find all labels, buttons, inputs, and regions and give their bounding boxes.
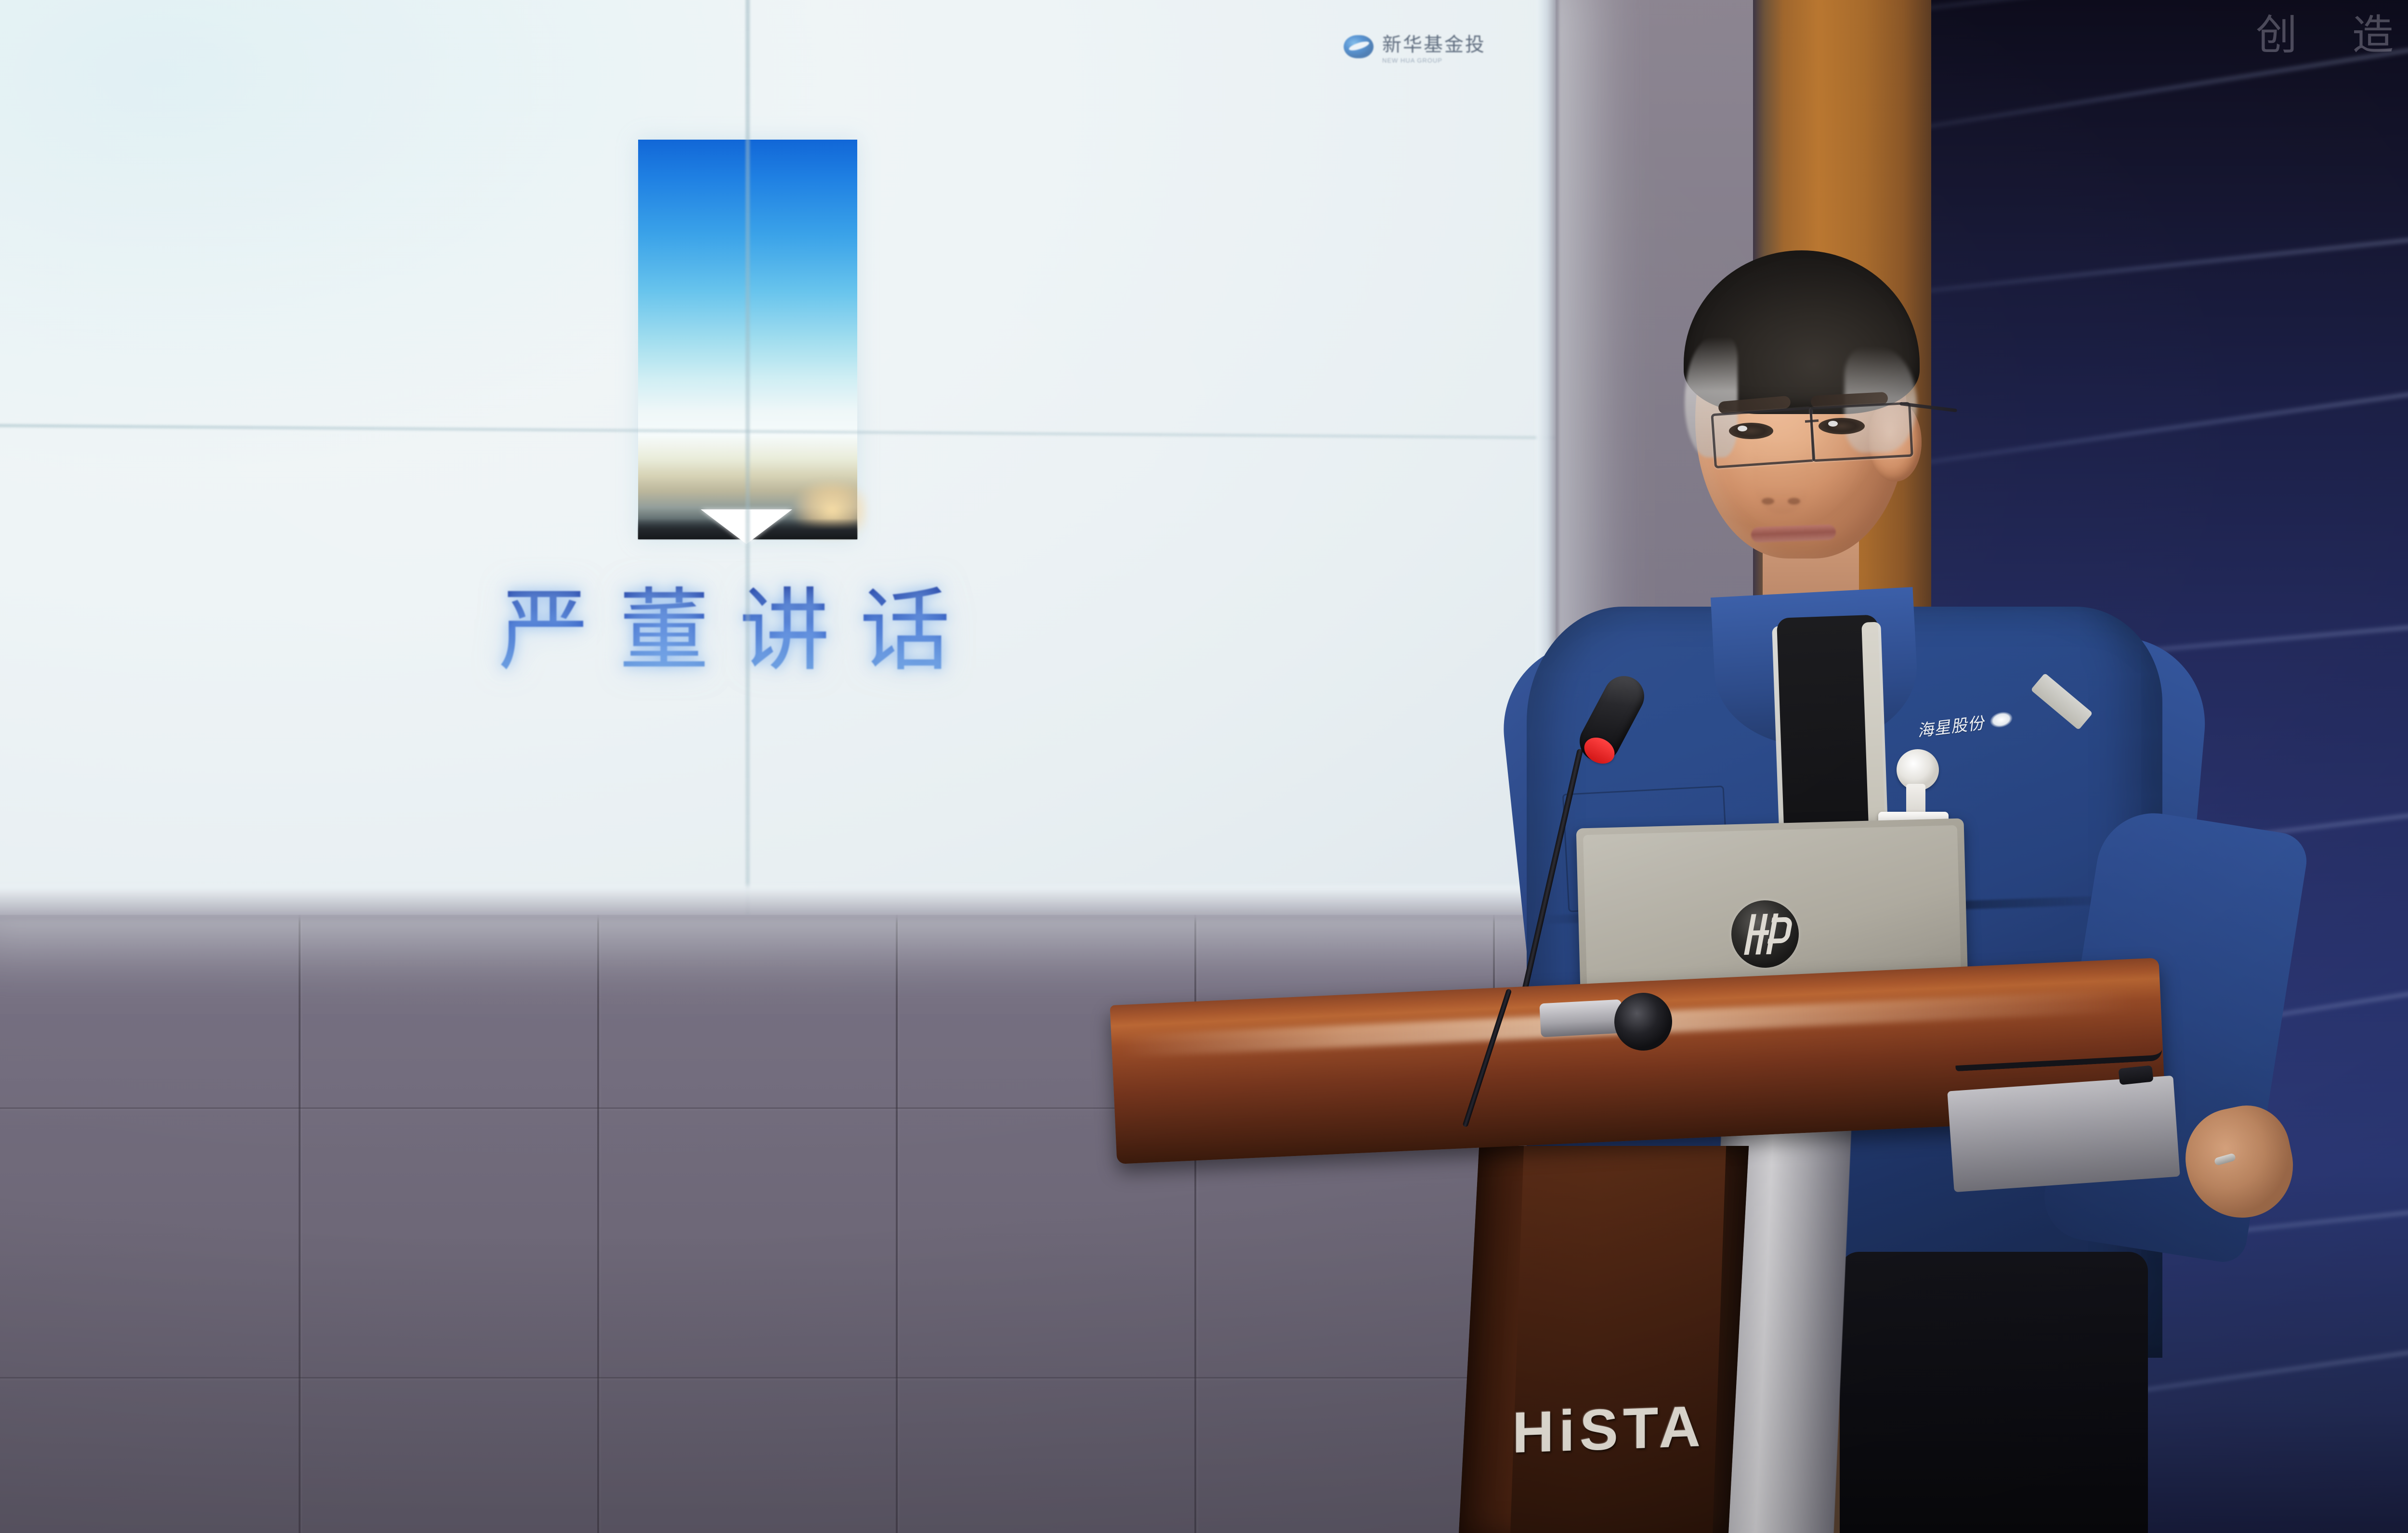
glasses-lens-right — [1809, 402, 1913, 462]
light-streak — [1931, 325, 2408, 491]
hp-logo-h-bar — [1750, 930, 1769, 935]
slide-title: 严 董 讲 话 — [498, 586, 950, 677]
podium-logo-text: HiSTA — [1512, 1393, 1705, 1466]
podium-column-front — [1510, 1146, 1726, 1533]
slide-title-char: 严 — [498, 586, 589, 677]
nostril — [1788, 498, 1800, 505]
slide-title-char: 董 — [619, 586, 709, 677]
trousers — [1840, 1252, 2148, 1533]
screen-vertical-seam — [746, 0, 750, 915]
banner-char: 造 — [2352, 14, 2395, 56]
microphone-base — [1539, 1000, 1623, 1038]
slide-title-char: 讲 — [739, 586, 830, 677]
banner-char: 创 — [2256, 14, 2298, 56]
podium-side-arm — [1947, 1076, 2180, 1192]
jacket-logo-mark-icon — [1986, 707, 2019, 731]
light-streak — [1931, 187, 2408, 313]
mouth — [1751, 524, 1836, 543]
slide-logo-english: NEW HUA GROUP — [1382, 57, 1486, 64]
photo-scene: 创 造 成 就 新华基金投 NEW HUA GROUP 严 董 讲 话 — [0, 0, 2408, 1533]
slide-title-char: 话 — [860, 586, 950, 677]
backdrop-banner-text: 创 造 成 就 — [2256, 14, 2408, 56]
badge-clip — [1906, 784, 1925, 815]
screen-bottom-edge — [0, 886, 1556, 920]
slide-brand-logo: 新华基金投 NEW HUA GROUP — [1344, 29, 1486, 64]
cable-clip — [2118, 1065, 2153, 1085]
glasses-lens-left — [1711, 407, 1815, 468]
nostril — [1762, 498, 1774, 505]
slide-logo-chinese: 新华基金投 — [1382, 29, 1486, 57]
swoosh-logo-icon — [1344, 35, 1374, 58]
hp-logo-p-bowl — [1767, 917, 1793, 943]
